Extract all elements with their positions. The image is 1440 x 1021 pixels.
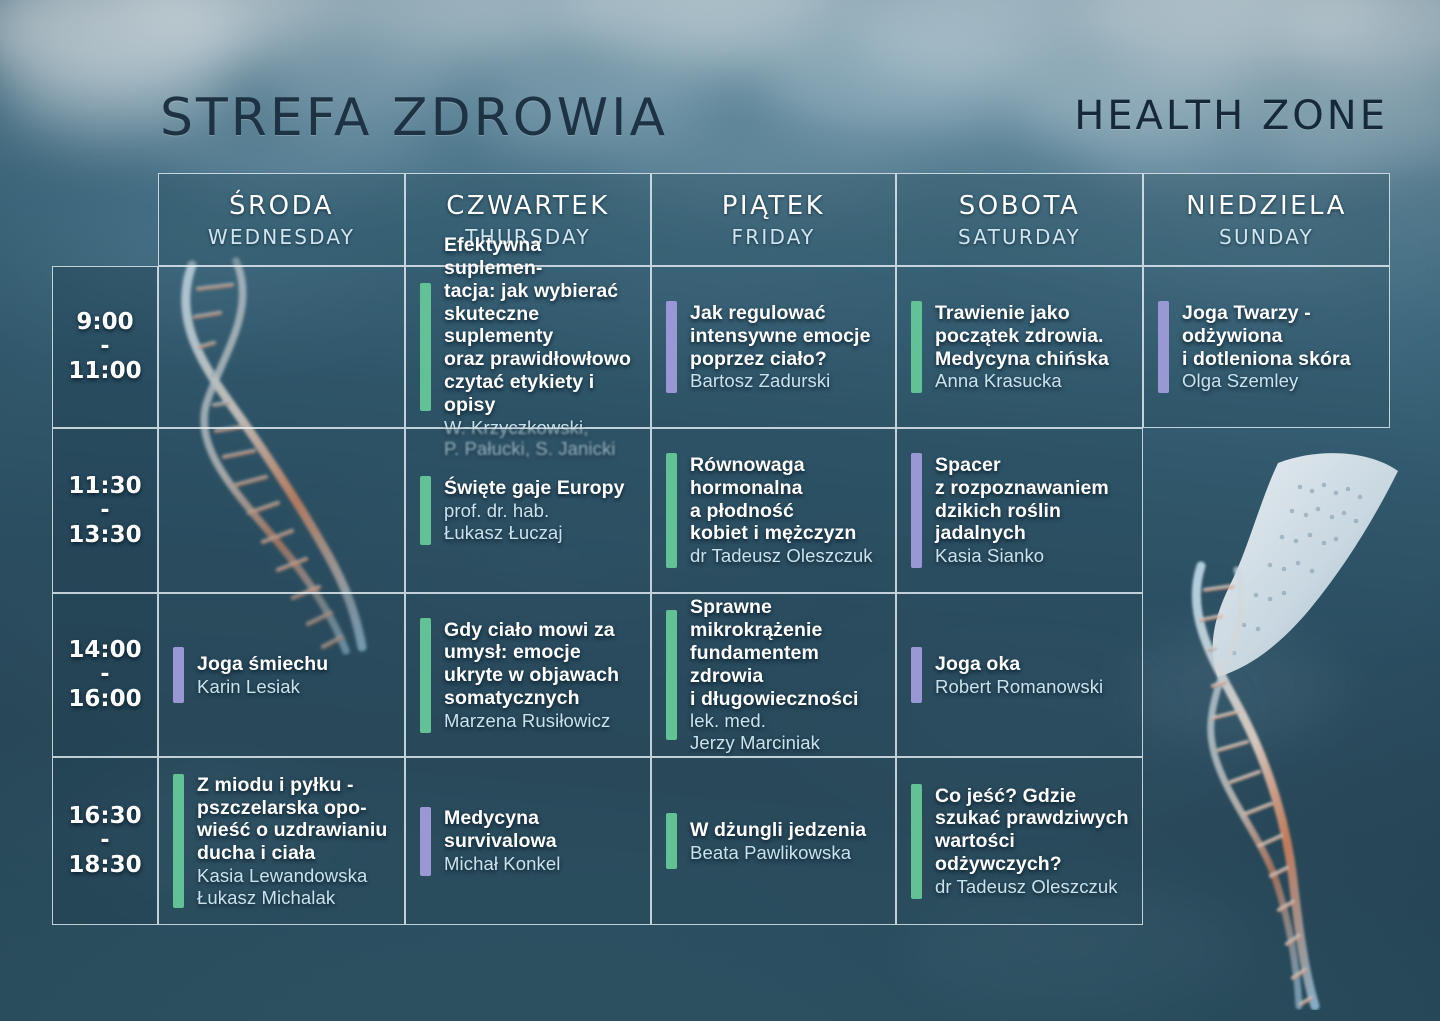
session-accent-bar bbox=[911, 784, 922, 899]
session-accent-bar bbox=[666, 301, 677, 393]
time-slot-label: 14:00-16:00 bbox=[68, 637, 141, 712]
session-title: W dżungli jedzenia bbox=[690, 819, 883, 842]
session-content: Jak regulowaćintensywne emocjepoprzez ci… bbox=[652, 301, 895, 393]
time-separator: - bbox=[68, 500, 141, 522]
column-header-sunday: NIEDZIELASUNDAY bbox=[1143, 173, 1390, 266]
session-text: Gdy ciało mowi zaumysł: emocjeukryte w o… bbox=[444, 619, 638, 732]
session-speaker: Michał Konkel bbox=[444, 853, 638, 875]
time-slot-2: 14:00-16:00 bbox=[52, 593, 158, 757]
session-content: W dżungli jedzeniaBeata Pawlikowska bbox=[652, 813, 895, 869]
session-speaker: Beata Pawlikowska bbox=[690, 842, 883, 864]
session-text: Święte gaje Europyprof. dr. hab.Łukasz Ł… bbox=[444, 477, 638, 543]
session-cell-friday-2[interactable]: Sprawnemikrokrążeniefundamentem zdrowiai… bbox=[651, 593, 896, 757]
session-text: Joga Twarzy -odżywionai dotleniona skóra… bbox=[1182, 302, 1377, 392]
session-accent-bar bbox=[420, 283, 431, 411]
session-title: Równowagahormonalnaa płodnośćkobiet i mę… bbox=[690, 454, 883, 545]
session-title: Trawienie jakopoczątek zdrowia.Medycyna … bbox=[935, 302, 1130, 370]
session-cell-saturday-0[interactable]: Trawienie jakopoczątek zdrowia.Medycyna … bbox=[896, 266, 1143, 428]
session-content: Z miodu i pyłku -pszczelarska opo-wieść … bbox=[159, 774, 404, 909]
session-text: Efektywna suplemen-tacja: jak wybieraćsk… bbox=[444, 234, 638, 460]
time-slot-0: 9:00-11:00 bbox=[52, 266, 158, 428]
session-cell-wednesday-2[interactable]: Joga śmiechuKarin Lesiak bbox=[158, 593, 405, 757]
session-content: Joga Twarzy -odżywionai dotleniona skóra… bbox=[1144, 301, 1389, 393]
session-text: Jak regulowaćintensywne emocjepoprzez ci… bbox=[690, 302, 883, 392]
column-header-pl: NIEDZIELA bbox=[1186, 191, 1347, 221]
session-accent-bar bbox=[911, 453, 922, 568]
session-content: Co jeść? Gdzieszukać prawdziwychwartości… bbox=[897, 784, 1142, 899]
session-content: Święte gaje Europyprof. dr. hab.Łukasz Ł… bbox=[406, 476, 650, 545]
session-text: Trawienie jakopoczątek zdrowia.Medycyna … bbox=[935, 302, 1130, 392]
session-title: Jak regulowaćintensywne emocjepoprzez ci… bbox=[690, 302, 883, 370]
session-cell-thursday-2[interactable]: Gdy ciało mowi zaumysł: emocjeukryte w o… bbox=[405, 593, 651, 757]
session-speaker: Bartosz Zadurski bbox=[690, 370, 883, 392]
session-accent-bar bbox=[173, 774, 184, 908]
session-content: Efektywna suplemen-tacja: jak wybieraćsk… bbox=[406, 234, 650, 460]
session-cell-thursday-3[interactable]: MedycynasurvivalowaMichał Konkel bbox=[405, 757, 651, 925]
session-cell-wednesday-3[interactable]: Z miodu i pyłku -pszczelarska opo-wieść … bbox=[158, 757, 405, 925]
session-content: Joga śmiechuKarin Lesiak bbox=[159, 647, 404, 703]
schedule-grid: ŚRODAWEDNESDAYCZWARTEKTHURSDAYPIĄTEKFRID… bbox=[0, 0, 1440, 1021]
session-accent-bar bbox=[666, 610, 677, 740]
column-header-pl: ŚRODA bbox=[229, 191, 334, 221]
time-start: 16:30 bbox=[68, 803, 141, 829]
session-speaker: Karin Lesiak bbox=[197, 676, 392, 698]
time-slot-label: 9:00-11:00 bbox=[68, 309, 141, 384]
session-content: Joga okaRobert Romanowski bbox=[897, 647, 1142, 703]
session-content: Trawienie jakopoczątek zdrowia.Medycyna … bbox=[897, 301, 1142, 393]
column-header-pl: SOBOTA bbox=[959, 191, 1080, 221]
column-header-en: SATURDAY bbox=[958, 225, 1081, 249]
time-slot-label: 11:30-13:30 bbox=[68, 473, 141, 548]
column-header-pl: PIĄTEK bbox=[722, 191, 825, 221]
session-title: Z miodu i pyłku -pszczelarska opo-wieść … bbox=[197, 774, 392, 865]
session-content: Równowagahormonalnaa płodnośćkobiet i mę… bbox=[652, 453, 895, 568]
session-text: Sprawnemikrokrążeniefundamentem zdrowiai… bbox=[690, 596, 883, 753]
session-cell-wednesday-1 bbox=[158, 428, 405, 593]
column-header-en: FRIDAY bbox=[732, 225, 816, 249]
time-end: 16:00 bbox=[68, 686, 141, 712]
column-header-en: SUNDAY bbox=[1219, 225, 1314, 249]
session-speaker: lek. med.Jerzy Marciniak bbox=[690, 710, 883, 753]
session-accent-bar bbox=[911, 647, 922, 703]
session-speaker: Olga Szemley bbox=[1182, 370, 1377, 392]
session-speaker: Anna Krasucka bbox=[935, 370, 1130, 392]
session-title: Spacerz rozpoznawaniemdzikich roślinjada… bbox=[935, 454, 1130, 545]
session-text: MedycynasurvivalowaMichał Konkel bbox=[444, 807, 638, 874]
session-speaker: dr Tadeusz Oleszczuk bbox=[690, 545, 883, 567]
column-header-wednesday: ŚRODAWEDNESDAY bbox=[158, 173, 405, 266]
session-speaker: Kasia Sianko bbox=[935, 545, 1130, 567]
session-title: Medycynasurvivalowa bbox=[444, 807, 638, 853]
session-title: Święte gaje Europy bbox=[444, 477, 638, 500]
session-cell-saturday-3[interactable]: Co jeść? Gdzieszukać prawdziwychwartości… bbox=[896, 757, 1143, 925]
session-accent-bar bbox=[666, 453, 677, 568]
session-text: W dżungli jedzeniaBeata Pawlikowska bbox=[690, 819, 883, 863]
time-end: 13:30 bbox=[68, 522, 141, 548]
session-text: Co jeść? Gdzieszukać prawdziwychwartości… bbox=[935, 785, 1130, 898]
column-header-en: WEDNESDAY bbox=[208, 225, 355, 249]
column-header-friday: PIĄTEKFRIDAY bbox=[651, 173, 896, 266]
session-content: Gdy ciało mowi zaumysł: emocjeukryte w o… bbox=[406, 618, 650, 733]
session-cell-saturday-1[interactable]: Spacerz rozpoznawaniemdzikich roślinjada… bbox=[896, 428, 1143, 593]
session-cell-sunday-0[interactable]: Joga Twarzy -odżywionai dotleniona skóra… bbox=[1143, 266, 1390, 428]
session-accent-bar bbox=[420, 476, 431, 545]
session-cell-wednesday-0 bbox=[158, 266, 405, 428]
time-separator: - bbox=[68, 664, 141, 686]
session-speaker: Marzena Rusiłowicz bbox=[444, 710, 638, 732]
session-cell-friday-3[interactable]: W dżungli jedzeniaBeata Pawlikowska bbox=[651, 757, 896, 925]
session-accent-bar bbox=[666, 813, 677, 869]
session-title: Co jeść? Gdzieszukać prawdziwychwartości… bbox=[935, 785, 1130, 876]
session-title: Joga śmiechu bbox=[197, 653, 392, 676]
time-end: 11:00 bbox=[68, 358, 141, 384]
session-text: Joga okaRobert Romanowski bbox=[935, 653, 1130, 697]
column-header-saturday: SOBOTASATURDAY bbox=[896, 173, 1143, 266]
session-accent-bar bbox=[911, 301, 922, 393]
session-text: Joga śmiechuKarin Lesiak bbox=[197, 653, 392, 697]
time-end: 18:30 bbox=[68, 852, 141, 878]
session-speaker: Robert Romanowski bbox=[935, 676, 1130, 698]
session-text: Równowagahormonalnaa płodnośćkobiet i mę… bbox=[690, 454, 883, 567]
session-cell-friday-1[interactable]: Równowagahormonalnaa płodnośćkobiet i mę… bbox=[651, 428, 896, 593]
session-accent-bar bbox=[420, 618, 431, 733]
session-text: Z miodu i pyłku -pszczelarska opo-wieść … bbox=[197, 774, 392, 909]
session-speaker: Kasia LewandowskaŁukasz Michalak bbox=[197, 865, 392, 908]
time-start: 9:00 bbox=[76, 309, 133, 335]
time-separator: - bbox=[68, 336, 141, 358]
session-title: Joga Twarzy -odżywionai dotleniona skóra bbox=[1182, 302, 1377, 370]
session-title: Efektywna suplemen-tacja: jak wybieraćsk… bbox=[444, 234, 638, 417]
column-header-pl: CZWARTEK bbox=[446, 191, 610, 221]
session-accent-bar bbox=[420, 807, 431, 876]
session-content: Spacerz rozpoznawaniemdzikich roślinjada… bbox=[897, 453, 1142, 568]
time-start: 14:00 bbox=[68, 637, 141, 663]
session-content: Sprawnemikrokrążeniefundamentem zdrowiai… bbox=[652, 596, 895, 753]
time-slot-1: 11:30-13:30 bbox=[52, 428, 158, 593]
session-cell-saturday-2[interactable]: Joga okaRobert Romanowski bbox=[896, 593, 1143, 757]
session-cell-thursday-0[interactable]: Efektywna suplemen-tacja: jak wybieraćsk… bbox=[405, 266, 651, 428]
session-title: Joga oka bbox=[935, 653, 1130, 676]
time-separator: - bbox=[68, 830, 141, 852]
session-text: Spacerz rozpoznawaniemdzikich roślinjada… bbox=[935, 454, 1130, 567]
session-content: MedycynasurvivalowaMichał Konkel bbox=[406, 807, 650, 876]
session-speaker: prof. dr. hab.Łukasz Łuczaj bbox=[444, 500, 638, 543]
session-accent-bar bbox=[173, 647, 184, 703]
session-speaker: dr Tadeusz Oleszczuk bbox=[935, 876, 1130, 898]
session-title: Sprawnemikrokrążeniefundamentem zdrowiai… bbox=[690, 596, 883, 710]
time-start: 11:30 bbox=[68, 473, 141, 499]
session-cell-friday-0[interactable]: Jak regulowaćintensywne emocjepoprzez ci… bbox=[651, 266, 896, 428]
time-slot-label: 16:30-18:30 bbox=[68, 803, 141, 878]
session-title: Gdy ciało mowi zaumysł: emocjeukryte w o… bbox=[444, 619, 638, 710]
session-cell-thursday-1[interactable]: Święte gaje Europyprof. dr. hab.Łukasz Ł… bbox=[405, 428, 651, 593]
session-accent-bar bbox=[1158, 301, 1169, 393]
time-slot-3: 16:30-18:30 bbox=[52, 757, 158, 925]
